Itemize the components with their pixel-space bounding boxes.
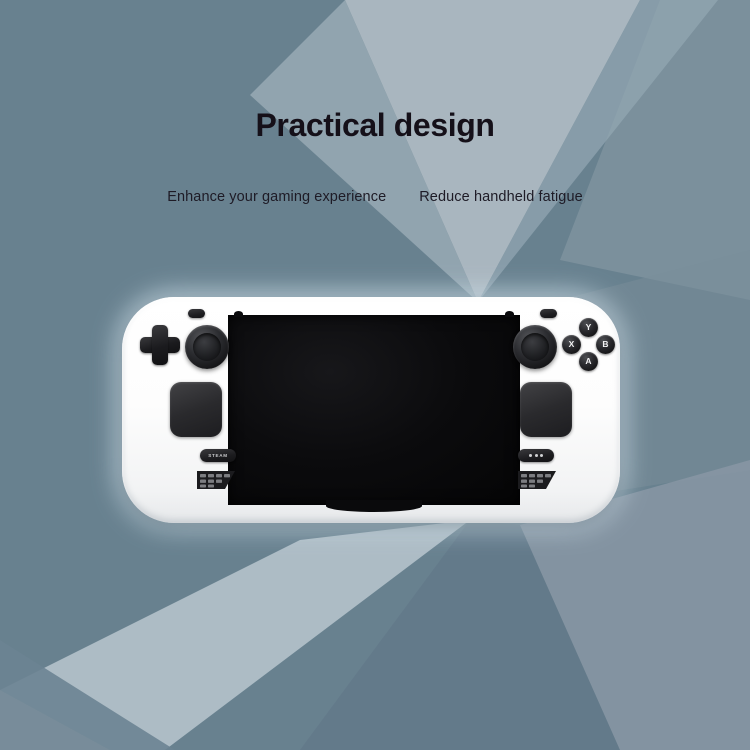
left-trackpad[interactable] xyxy=(170,382,222,437)
poster-canvas: Practical design Enhance your gaming exp… xyxy=(0,0,750,750)
view-button[interactable] xyxy=(188,309,205,318)
subtitle-row: Enhance your gaming experience Reduce ha… xyxy=(0,189,750,205)
page-title: Practical design xyxy=(0,108,750,143)
face-button-b[interactable]: B xyxy=(596,335,615,354)
subtitle-enhance-gaming: Enhance your gaming experience xyxy=(167,189,386,205)
steam-button-label: STEAM xyxy=(208,453,228,458)
left-speaker-grille xyxy=(197,471,237,490)
menu-pill-button[interactable] xyxy=(540,309,557,318)
dot-1 xyxy=(529,454,532,457)
menu-dots-button[interactable] xyxy=(518,449,554,462)
dot-3 xyxy=(540,454,543,457)
handheld-console-image: STEAM xyxy=(118,293,624,527)
face-button-y[interactable]: Y xyxy=(579,318,598,337)
device-shell: STEAM xyxy=(122,297,620,523)
steam-button[interactable]: STEAM xyxy=(200,449,236,462)
face-button-x[interactable]: X xyxy=(562,335,581,354)
dpad-vertical-arm xyxy=(152,325,168,365)
face-button-cluster: Y X B A xyxy=(562,318,616,372)
face-button-a[interactable]: A xyxy=(579,352,598,371)
device-screen xyxy=(228,315,520,505)
subtitle-reduce-fatigue: Reduce handheld fatigue xyxy=(419,189,583,205)
left-analog-stick[interactable] xyxy=(185,325,229,369)
dpad[interactable] xyxy=(140,325,180,365)
right-speaker-grille xyxy=(518,471,558,490)
dot-2 xyxy=(535,454,538,457)
right-trackpad[interactable] xyxy=(520,382,572,437)
screen-chin xyxy=(326,500,422,512)
right-analog-stick[interactable] xyxy=(513,325,557,369)
